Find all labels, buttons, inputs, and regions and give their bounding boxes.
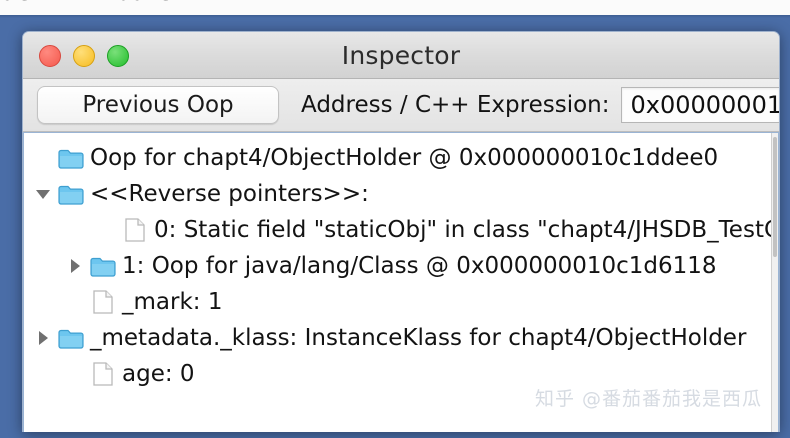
tree-row[interactable]: Oop for chapt4/ObjectHolder @ 0x00000001…: [24, 140, 778, 176]
twisty-spacer: [62, 284, 88, 320]
tree-row-label: <<Reverse pointers>>:: [86, 181, 369, 207]
tree-row-label: 0: Static field "staticObj" in class "ch…: [150, 217, 779, 243]
twisty-spacer: [94, 212, 120, 248]
twisty-spacer: [62, 356, 88, 392]
inspector-toolbar: Previous Oop Address / C++ Expression: 0…: [23, 79, 779, 132]
tree-row[interactable]: 0: Static field "staticObj" in class "ch…: [24, 212, 778, 248]
menu-item-tools[interactable]: ools: [0, 0, 30, 5]
chevron-right-icon[interactable]: [62, 248, 88, 284]
vertical-scrollbar-thumb[interactable]: [773, 137, 777, 257]
tree-row[interactable]: _metadata._klass: InstanceKlass for chap…: [24, 320, 778, 356]
vertical-scrollbar[interactable]: [771, 133, 778, 432]
tree-row-label: age: 0: [118, 361, 195, 387]
tree-row-label: _metadata._klass: InstanceKlass for chap…: [86, 325, 746, 351]
window-title: Inspector: [23, 32, 779, 78]
previous-oop-button[interactable]: Previous Oop: [37, 86, 279, 124]
address-input[interactable]: 0x00000001: [621, 87, 779, 123]
tree-row[interactable]: <<Reverse pointers>>:: [24, 176, 778, 212]
chevron-down-icon[interactable]: [30, 176, 56, 212]
tree-row[interactable]: _mark: 1: [24, 284, 778, 320]
app-menubar: ools Windows: [0, 0, 790, 15]
tree-row-label: _mark: 1: [118, 289, 222, 315]
folder-icon: [88, 248, 118, 284]
folder-icon: [56, 140, 86, 176]
chevron-right-icon[interactable]: [30, 320, 56, 356]
screen: ools Windows Inspector Previous Oop Addr…: [0, 0, 790, 438]
tree-row[interactable]: age: 0: [24, 356, 778, 392]
window-titlebar[interactable]: Inspector: [23, 32, 779, 79]
folder-icon: [56, 320, 86, 356]
tree-row[interactable]: 1: Oop for java/lang/Class @ 0x000000010…: [24, 248, 778, 284]
tree-row-label: 1: Oop for java/lang/Class @ 0x000000010…: [118, 253, 717, 279]
oop-tree-pane[interactable]: Oop for chapt4/ObjectHolder @ 0x00000001…: [23, 132, 779, 432]
tree-row-label: Oop for chapt4/ObjectHolder @ 0x00000001…: [86, 145, 718, 171]
inspector-window: Inspector Previous Oop Address / C++ Exp…: [22, 31, 780, 432]
menu-item-windows[interactable]: Windows: [78, 0, 172, 5]
file-icon: [88, 356, 118, 392]
twisty-spacer: [30, 140, 56, 176]
address-expression-label: Address / C++ Expression:: [301, 92, 609, 118]
file-icon: [120, 212, 150, 248]
folder-icon: [56, 176, 86, 212]
file-icon: [88, 284, 118, 320]
oop-tree: Oop for chapt4/ObjectHolder @ 0x00000001…: [24, 133, 778, 392]
